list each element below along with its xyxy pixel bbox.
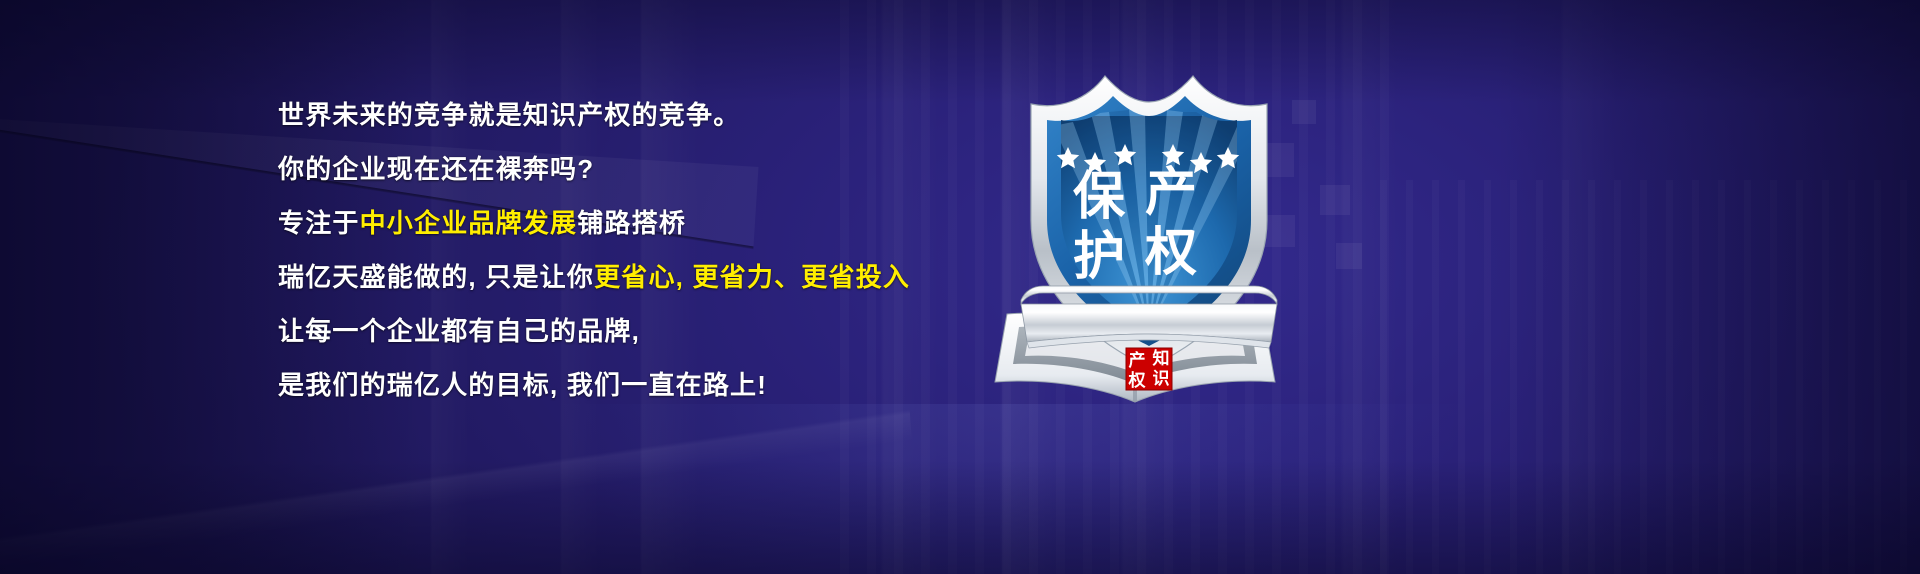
seal-char-top-right: 知 <box>1152 348 1170 368</box>
shield-char-bottom-left: 护 <box>1073 228 1125 286</box>
copy-line-6: 是我们的瑞亿人的目标, 我们一直在路上! <box>278 358 938 412</box>
copy-line-1-text: 世界未来的竞争就是知识产权的竞争。 <box>278 100 740 130</box>
copy-line-3-highlight: 中小企业品牌发展 <box>360 208 578 238</box>
copy-line-3-part-a: 专注于 <box>278 208 360 238</box>
copy-line-1: 世界未来的竞争就是知识产权的竞争。 <box>278 88 938 142</box>
copy-line-2-text: 你的企业现在还在裸奔吗? <box>278 154 594 184</box>
seal-char-bottom-right: 识 <box>1153 369 1170 388</box>
shield-char-bottom-right: 权 <box>1144 224 1197 282</box>
seal-char-bottom-left: 权 <box>1128 370 1147 390</box>
ip-seal: 产 知 权 识 <box>1126 348 1172 390</box>
seal-char-top-left: 产 <box>1129 350 1146 370</box>
copy-line-4-part-a: 瑞亿天盛能做的, 只是让你 <box>278 262 594 292</box>
promo-banner: 世界未来的竞争就是知识产权的竞争。 你的企业现在还在裸奔吗? 专注于中小企业品牌… <box>0 0 1920 574</box>
copy-line-5: 让每一个企业都有自己的品牌, <box>278 304 938 358</box>
copy-line-4-highlight: 更省心, 更省力、更省投入 <box>594 262 910 292</box>
copy-line-2: 你的企业现在还在裸奔吗? <box>278 142 938 196</box>
copy-line-5-text: 让每一个企业都有自己的品牌, <box>278 316 640 346</box>
copy-line-3-part-c: 铺路搭桥 <box>577 208 686 238</box>
ip-shield-emblem: 保 产 护 权 产 知 权 识 <box>985 52 1325 402</box>
shield-char-top-left: 保 <box>1073 168 1126 226</box>
copy-line-6-text: 是我们的瑞亿人的目标, 我们一直在路上! <box>278 370 767 400</box>
headline-copy: 世界未来的竞争就是知识产权的竞争。 你的企业现在还在裸奔吗? 专注于中小企业品牌… <box>278 88 938 412</box>
copy-line-3: 专注于中小企业品牌发展铺路搭桥 <box>278 196 938 250</box>
shield-char-top-right: 产 <box>1145 164 1197 222</box>
copy-line-4: 瑞亿天盛能做的, 只是让你更省心, 更省力、更省投入 <box>278 250 938 304</box>
